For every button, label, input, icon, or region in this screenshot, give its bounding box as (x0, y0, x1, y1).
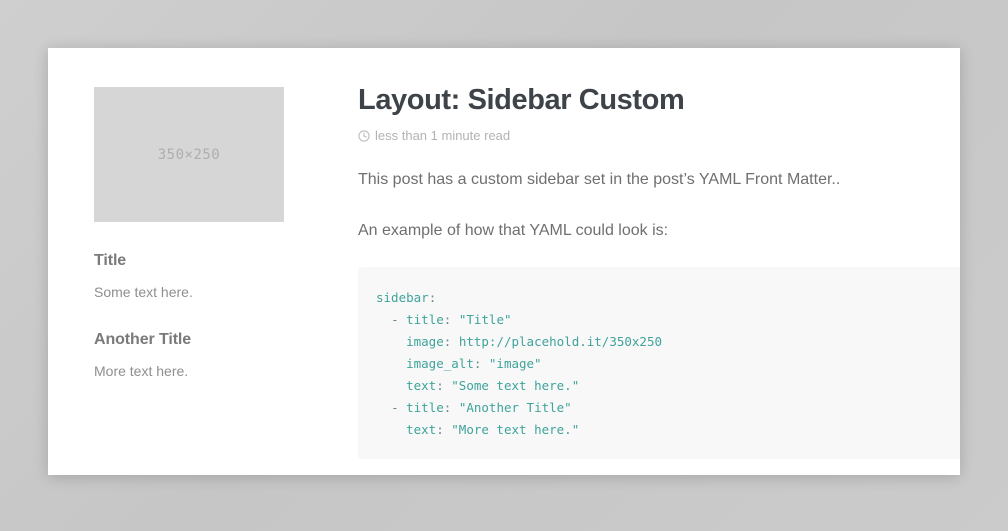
sidebar-text-2: More text here. (94, 361, 304, 382)
sidebar-figure: 350×250 (94, 87, 284, 222)
yaml-code: sidebar: - title: "Title" image: http://… (376, 290, 662, 437)
clock-icon (358, 130, 370, 142)
page-root: 350×250 Title Some text here. Another Ti… (0, 0, 1008, 531)
post-main: Layout: Sidebar Custom less than 1 minut… (358, 84, 960, 475)
sidebar-text-1: Some text here. (94, 282, 304, 303)
post-meta: less than 1 minute read (358, 128, 960, 143)
page-content: 350×250 Title Some text here. Another Ti… (48, 48, 960, 475)
sidebar-block-2: Another Title More text here. (94, 331, 304, 382)
sidebar-block-1: Title Some text here. (94, 252, 304, 303)
sidebar-figure-label: 350×250 (158, 147, 221, 163)
code-block: sidebar: - title: "Title" image: http://… (358, 267, 960, 459)
code-content: sidebar: - title: "Title" image: http://… (376, 287, 960, 441)
sidebar-heading-2: Another Title (94, 331, 304, 349)
sidebar-heading-1: Title (94, 252, 304, 270)
read-time-label: less than 1 minute read (375, 128, 510, 143)
page-card: 350×250 Title Some text here. Another Ti… (48, 48, 960, 475)
post-paragraph-2: An example of how that YAML could look i… (358, 219, 960, 244)
page-title: Layout: Sidebar Custom (358, 84, 960, 117)
post-sidebar: 350×250 Title Some text here. Another Ti… (94, 87, 304, 382)
post-paragraph-1: This post has a custom sidebar set in th… (358, 168, 960, 193)
